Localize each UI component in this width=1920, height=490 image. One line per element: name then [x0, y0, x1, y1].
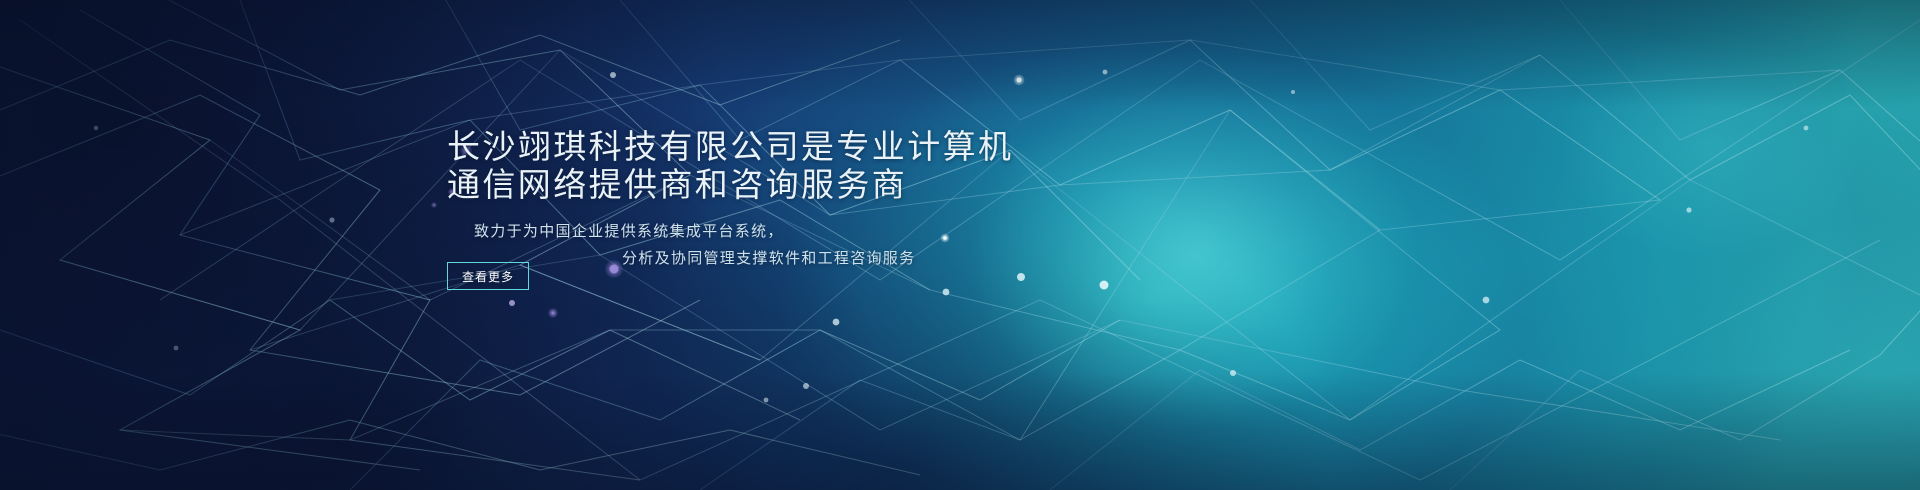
headline-line-1: 长沙翊琪科技有限公司是专业计算机 — [447, 128, 1147, 166]
headline-line-2: 通信网络提供商和咨询服务商 — [447, 166, 1147, 204]
subtitle-line-2: 分析及协同管理支撑软件和工程咨询服务 — [447, 245, 1147, 272]
hero-content: 长沙翊琪科技有限公司是专业计算机 通信网络提供商和咨询服务商 致力于为中国企业提… — [447, 128, 1147, 272]
hero-banner: 长沙翊琪科技有限公司是专业计算机 通信网络提供商和咨询服务商 致力于为中国企业提… — [0, 0, 1920, 490]
subtitle-line-1: 致力于为中国企业提供系统集成平台系统， — [447, 218, 1147, 245]
view-more-button[interactable]: 查看更多 — [447, 262, 529, 290]
subtitle-group: 致力于为中国企业提供系统集成平台系统， 分析及协同管理支撑软件和工程咨询服务 — [447, 218, 1147, 272]
